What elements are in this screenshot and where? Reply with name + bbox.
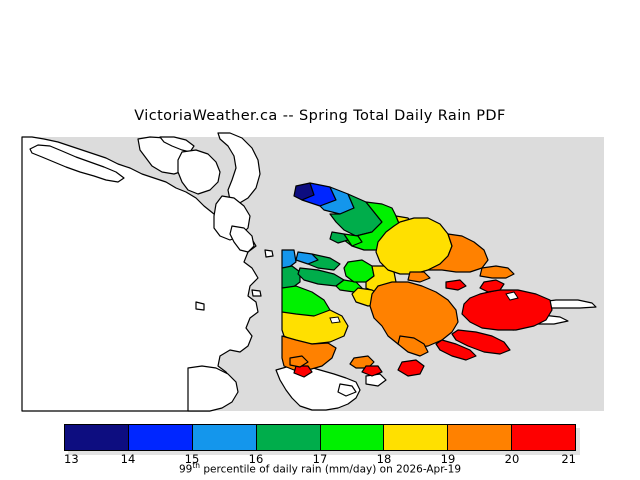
- colorbar: [64, 424, 576, 451]
- colorbar-segment-6: [384, 425, 448, 450]
- colorbar-segment-8: [512, 425, 575, 450]
- rain-percentile-map: [0, 0, 640, 480]
- colorbar-caption: 99th percentile of daily rain (mm/day) o…: [0, 461, 640, 476]
- rain-band-16-17-west: [282, 266, 300, 288]
- colorbar-segment-4: [257, 425, 321, 450]
- colorbar-segments: [64, 424, 576, 451]
- weather-map-page: VictoriaWeather.ca -- Spring Total Daily…: [0, 0, 640, 480]
- caption-rest: percentile of daily rain (mm/day) on 202…: [200, 464, 461, 476]
- central-island-notch: [330, 317, 340, 323]
- colorbar-segment-5: [321, 425, 385, 450]
- caption-prefix: 99: [179, 464, 192, 476]
- colorbar-segment-1: [65, 425, 129, 450]
- colorbar-segment-2: [129, 425, 193, 450]
- colorbar-segment-3: [193, 425, 257, 450]
- colorbar-segment-7: [448, 425, 512, 450]
- caption-superscript: th: [192, 461, 200, 470]
- islet-3: [196, 302, 204, 310]
- islet-1: [265, 250, 273, 257]
- islet-2: [252, 290, 261, 296]
- rain-patch-20-21-hook: [480, 280, 504, 292]
